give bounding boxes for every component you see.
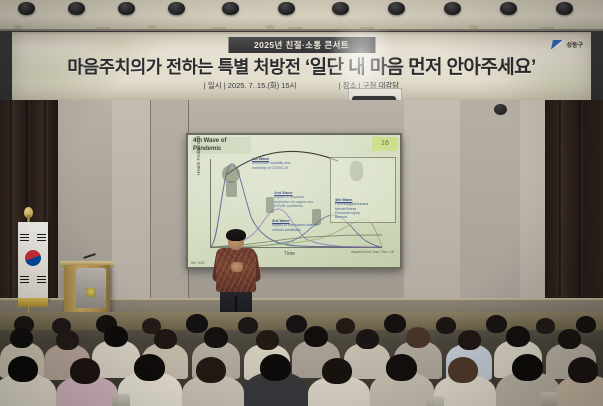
wall-panel (150, 100, 189, 300)
audience-head (304, 326, 328, 347)
audience-head (238, 317, 258, 334)
audience-head (256, 330, 279, 350)
district-logo-label: 성동구 (566, 40, 583, 49)
stage-curtain-right (545, 100, 603, 322)
ceiling-light-icon (222, 2, 239, 15)
banner-date: | 일시 | 2025. 7. 15.(화) 15시 (204, 81, 297, 90)
wall-panel (112, 100, 151, 300)
ceiling-light-icon (500, 2, 517, 15)
ceiling (0, 0, 603, 30)
ceiling-light-icon (118, 2, 135, 15)
slide-figure-icon (266, 197, 274, 213)
slide-caption: 2nd Wave Impact of resource restriction … (274, 191, 320, 209)
slide-callout-item: Burnout (335, 215, 391, 219)
audience-head (458, 330, 481, 350)
ceiling-light-icon (444, 2, 461, 15)
audience (0, 312, 603, 406)
banner-title-plain: 마음주치의가 전하는 특별 처방전 (67, 57, 300, 77)
slide-callout-box: 4th Wave Psychological trauma Mental ill… (330, 157, 396, 223)
audience-head (134, 354, 165, 381)
audience-head (10, 328, 33, 348)
audience-head (386, 354, 417, 381)
ceiling-light-icon (332, 2, 349, 15)
slide-figure-icon (226, 181, 237, 197)
ceiling-light-icon (168, 2, 185, 15)
audience-head (486, 315, 507, 333)
slide-caption-body: Impact of resource restriction on urgent… (274, 195, 320, 208)
audience-head (406, 327, 430, 348)
slide-callout-heading: 4th Wave (335, 197, 352, 202)
audience-head (56, 330, 79, 350)
audience-head (384, 314, 406, 333)
taeguk-symbol-icon (25, 250, 41, 266)
banner-detail-line: | 일시 | 2025. 7. 15.(화) 15시 | 장소 | 구청 대강당 (12, 80, 591, 91)
podium-emblem-icon (86, 288, 96, 297)
audience-head (104, 326, 128, 347)
audience-head (356, 329, 379, 349)
audience-head (448, 357, 478, 383)
district-logo: 성동구 (552, 40, 583, 49)
curtain-fold (579, 100, 583, 322)
ceiling-light-icon (68, 2, 85, 15)
projection-screen: 4th Wave of Pandemic 16 Health Problems … (188, 135, 400, 267)
event-banner: 2025년 친절·소통 콘서트 마음주치의가 전하는 특별 처방전 ‘일단 내 … (12, 32, 591, 102)
audience-head (186, 314, 208, 333)
audience-head (322, 358, 352, 384)
slide-caption: 1st Wave Immediate mortality and morbidi… (252, 157, 298, 170)
audience-head (196, 357, 226, 383)
slide-caption-heading: 3rd Wave (272, 218, 290, 223)
audience-head (154, 329, 177, 349)
audience-head (536, 318, 555, 334)
district-logo-icon (551, 40, 565, 49)
audience-head (8, 356, 38, 382)
slide-caption-heading: 2nd Wave (274, 190, 293, 195)
slide-callout-text: 4th Wave Psychological trauma Mental ill… (335, 198, 391, 219)
audience-head (568, 357, 598, 383)
slide-caption-body: Immediate mortality and morbidity of COV… (252, 161, 298, 170)
ceiling-light-icon (18, 2, 35, 15)
audience-head (512, 354, 543, 381)
slide-caption: 3rd Wave Impact of interrupted care on c… (272, 219, 318, 232)
wall-panel (460, 100, 521, 300)
speaker-hair (226, 229, 246, 241)
audience-head (70, 358, 100, 384)
ceiling-light-icon (556, 2, 573, 15)
speaker-hands (231, 262, 243, 272)
audience-head (204, 327, 228, 348)
flag-fringe (18, 298, 48, 307)
wall-panel (404, 100, 461, 300)
audience-head (506, 326, 530, 347)
audience-head (558, 329, 581, 349)
seat-back (112, 394, 130, 406)
slide-caption-body: Impact of interrupted care on chronic co… (272, 223, 318, 232)
banner-main-title: 마음주치의가 전하는 특별 처방전 ‘일단 내 마음 먼저 안아주세요’ (12, 52, 591, 79)
audience-head (336, 318, 355, 334)
ceiling-light-icon (278, 2, 295, 15)
audience-head (286, 315, 307, 333)
auditorium-photo: 2025년 친절·소통 콘서트 마음주치의가 전하는 특별 처방전 ‘일단 내 … (0, 0, 603, 406)
seat-back (426, 396, 444, 406)
slide-caption-heading: 1st Wave (252, 156, 269, 161)
audience-head (260, 354, 291, 381)
audience-head (436, 317, 456, 334)
korean-flag-icon (18, 222, 48, 300)
curtain-fold (559, 100, 563, 322)
audience-head (576, 316, 596, 333)
seat-back (540, 392, 558, 406)
curtain-fold (10, 100, 14, 322)
wall-speaker-icon (494, 104, 507, 115)
ceiling-light-icon (388, 2, 405, 15)
